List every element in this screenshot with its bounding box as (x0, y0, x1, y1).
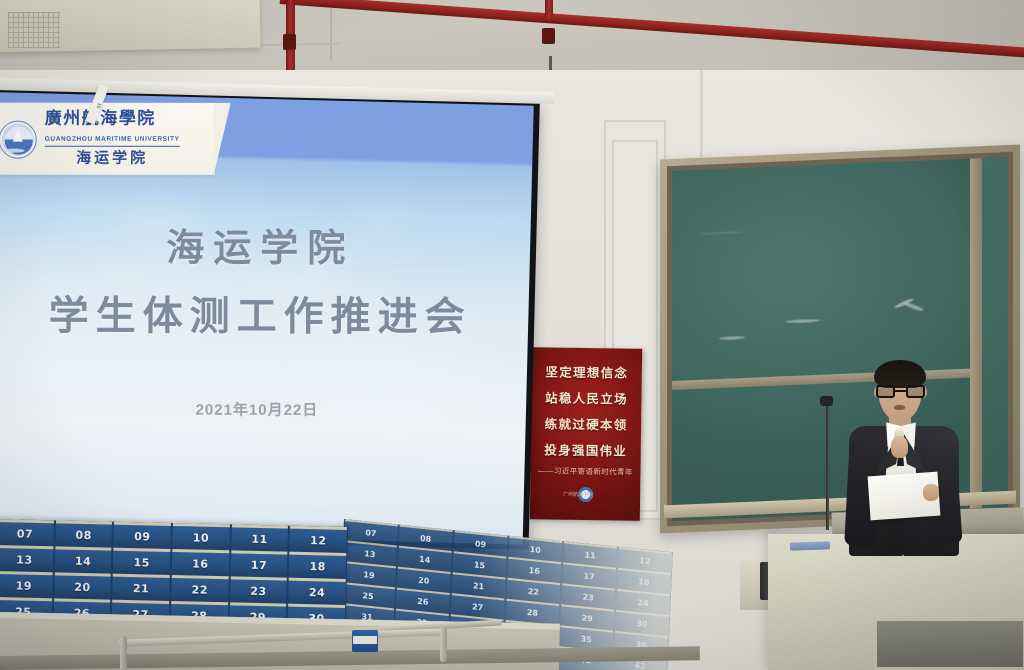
locker-number: 23 (250, 585, 267, 598)
locker-cell[interactable]: 10 (172, 523, 229, 550)
banner-line: 站稳人民立场 (531, 387, 641, 408)
locker-cell[interactable]: 11 (231, 524, 288, 551)
banner-logo-caption: 广州航海学院 (563, 491, 593, 498)
banner-logo-group: 广州航海学院 (545, 486, 625, 502)
chalkboard-right-panel (982, 157, 1008, 508)
locker-number: 17 (251, 559, 268, 572)
locker-cell[interactable]: 21 (113, 574, 170, 601)
locker-number: 15 (474, 560, 486, 570)
ceiling-seam (330, 0, 332, 60)
slide-surface: 廣州航海學院 GUANGZHOU MARITIME UNIVERSITY 海运学… (0, 92, 534, 544)
chalk-mark (699, 231, 743, 235)
slide-header-ribbon: 廣州航海學院 GUANGZHOU MARITIME UNIVERSITY 海运学… (0, 103, 215, 175)
locker-number: 08 (420, 534, 432, 544)
banner-line: 坚定理想信念 (532, 361, 642, 382)
fire-sprinkler-pipe-drop-secondary (545, 0, 553, 18)
locker-number: 20 (74, 581, 91, 594)
locker-number: 23 (582, 592, 594, 602)
locker-number: 22 (528, 587, 540, 597)
banner-line: 练就过硬本领 (531, 413, 641, 434)
locker-number: 16 (192, 557, 209, 570)
locker-cell[interactable]: 15 (113, 548, 170, 575)
locker-number: 13 (364, 549, 376, 559)
locker-number: 15 (133, 556, 150, 569)
hair (874, 360, 926, 388)
locker-number: 09 (134, 530, 151, 543)
chalk-mark (786, 319, 820, 323)
locker-number: 08 (75, 529, 92, 542)
locker-cell[interactable]: 08 (55, 520, 112, 547)
eyeglasses-icon (876, 385, 925, 398)
locker-cell[interactable]: 07 (0, 519, 54, 546)
university-emblem-icon (0, 121, 37, 159)
chalk-mark (719, 336, 745, 340)
locker-number: 20 (418, 576, 430, 586)
slide-title: 海运学院 学生体测工作推进会 (0, 216, 529, 342)
lecture-hall-photo: 坚定理想信念 站稳人民立场 练就过硬本领 投身强国伟业 ——习近平寄语新时代青年… (0, 0, 1024, 670)
locker-number: 35 (581, 634, 593, 644)
locker-number: 29 (581, 613, 593, 623)
handrail-post (120, 636, 127, 670)
banner-line: 投身强国伟业 (531, 439, 641, 460)
locker-number: 30 (636, 619, 648, 629)
slide-header-text: 廣州航海學院 GUANGZHOU MARITIME UNIVERSITY 海运学… (45, 111, 180, 167)
locker-cell[interactable]: 14 (54, 546, 111, 573)
locker-number: 25 (362, 591, 374, 601)
locker-number: 24 (309, 586, 326, 599)
mouth (894, 405, 905, 410)
locker-number: 12 (310, 534, 327, 547)
locker-cell[interactable]: 13 (0, 545, 53, 572)
locker-number: 09 (475, 539, 487, 549)
locker-number: 07 (17, 527, 34, 540)
locker-number: 21 (133, 582, 150, 595)
locker-number: 17 (583, 571, 595, 581)
hand-holding-paper (923, 484, 939, 501)
hand-holding-microphone (891, 436, 908, 458)
college-name-cn: 海运学院 (45, 151, 180, 167)
locker-number: 22 (191, 583, 208, 596)
slide-title-line2: 学生体测工作推进会 (0, 283, 529, 342)
locker-number: 18 (309, 560, 326, 573)
locker-cell[interactable]: 24 (289, 578, 346, 605)
pipe-collar (542, 28, 555, 44)
slide-title-line1: 海运学院 (0, 216, 529, 272)
microphone-stand (826, 402, 829, 530)
presenter (845, 360, 975, 590)
locker-number: 18 (638, 577, 650, 587)
locker-number: 42 (634, 661, 646, 670)
locker-number: 11 (251, 533, 268, 546)
university-name-cn: 廣州航海學院 (45, 111, 180, 129)
slide-date: 2021年10月22日 (0, 398, 526, 420)
locker-cell[interactable]: 20 (54, 572, 111, 599)
locker-number: 11 (584, 550, 596, 560)
lectern-speaker-grille-icon (8, 12, 60, 48)
locker-cell[interactable]: 19 (0, 571, 52, 598)
handrail-post (440, 626, 447, 662)
chalk-mark (904, 301, 924, 311)
projector-screen-border: 廣州航海學院 GUANGZHOU MARITIME UNIVERSITY 海运学… (0, 88, 540, 550)
locker-number: 07 (365, 528, 377, 538)
projector-screen: 廣州航海學院 GUANGZHOU MARITIME UNIVERSITY 海运学… (0, 88, 540, 550)
locker-number: 21 (473, 581, 485, 591)
locker-number: 28 (527, 608, 539, 618)
locker-number: 24 (637, 598, 649, 608)
banner-attribution: ——习近平寄语新时代青年 (530, 465, 640, 478)
microphone-stand-head-icon (820, 396, 833, 406)
locker-cell[interactable]: 18 (289, 552, 346, 579)
lectern-panel-window (874, 618, 1024, 670)
locker-number: 16 (529, 566, 541, 576)
locker-number: 19 (363, 570, 375, 580)
locker-cell[interactable]: 09 (114, 522, 171, 549)
wall-seam (700, 70, 703, 160)
locker-number: 13 (16, 553, 33, 566)
blue-supply-box[interactable] (352, 630, 378, 652)
locker-number: 10 (530, 545, 542, 555)
locker-number: 26 (417, 597, 429, 607)
locker-number: 14 (419, 555, 431, 565)
locker-cell[interactable]: 16 (172, 549, 229, 576)
locker-number: 19 (16, 579, 33, 592)
locker-cell[interactable]: 22 (171, 575, 228, 602)
motivational-banner: 坚定理想信念 站稳人民立场 练就过硬本领 投身强国伟业 ——习近平寄语新时代青年… (530, 347, 642, 521)
locker-number: 10 (193, 531, 210, 544)
blue-box-label (353, 636, 377, 644)
pipe-collar (283, 34, 296, 50)
locker-cell[interactable]: 12 (290, 526, 347, 553)
locker-number: 12 (639, 556, 651, 566)
university-name-en: GUANGZHOU MARITIME UNIVERSITY (45, 137, 180, 147)
locker-cell[interactable]: 17 (230, 550, 287, 577)
locker-number: 27 (472, 602, 484, 612)
locker-number: 14 (75, 555, 92, 568)
lectern-items[interactable] (790, 541, 830, 550)
locker-cell[interactable]: 23 (230, 576, 287, 603)
